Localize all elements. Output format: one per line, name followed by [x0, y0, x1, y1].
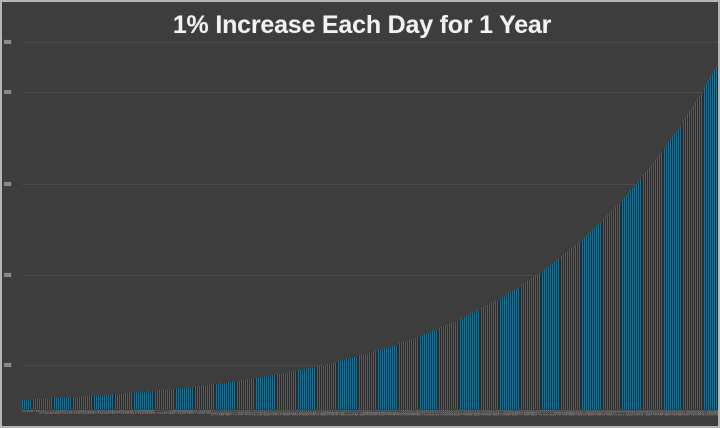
page-title: 1% Increase Each Day for 1 Year: [2, 11, 720, 40]
y-axis-tick-label: ███: [4, 273, 11, 277]
y-axis: ███████████████: [2, 2, 22, 428]
y-axis-tick-label: ███: [4, 182, 11, 186]
x-axis: 1234567891011121314151617181920212223242…: [22, 410, 718, 428]
chart-screenshot: 1% Increase Each Day for 1 Year ████████…: [0, 0, 720, 428]
bar-series: [22, 40, 718, 409]
y-axis-tick-label: ███: [4, 40, 11, 44]
y-axis-tick-label: ███: [4, 90, 11, 94]
y-axis-tick-label: ███: [4, 363, 11, 367]
plot-area: [22, 40, 718, 409]
bar: [716, 67, 718, 409]
x-axis-tick-label: 365: [716, 410, 718, 426]
